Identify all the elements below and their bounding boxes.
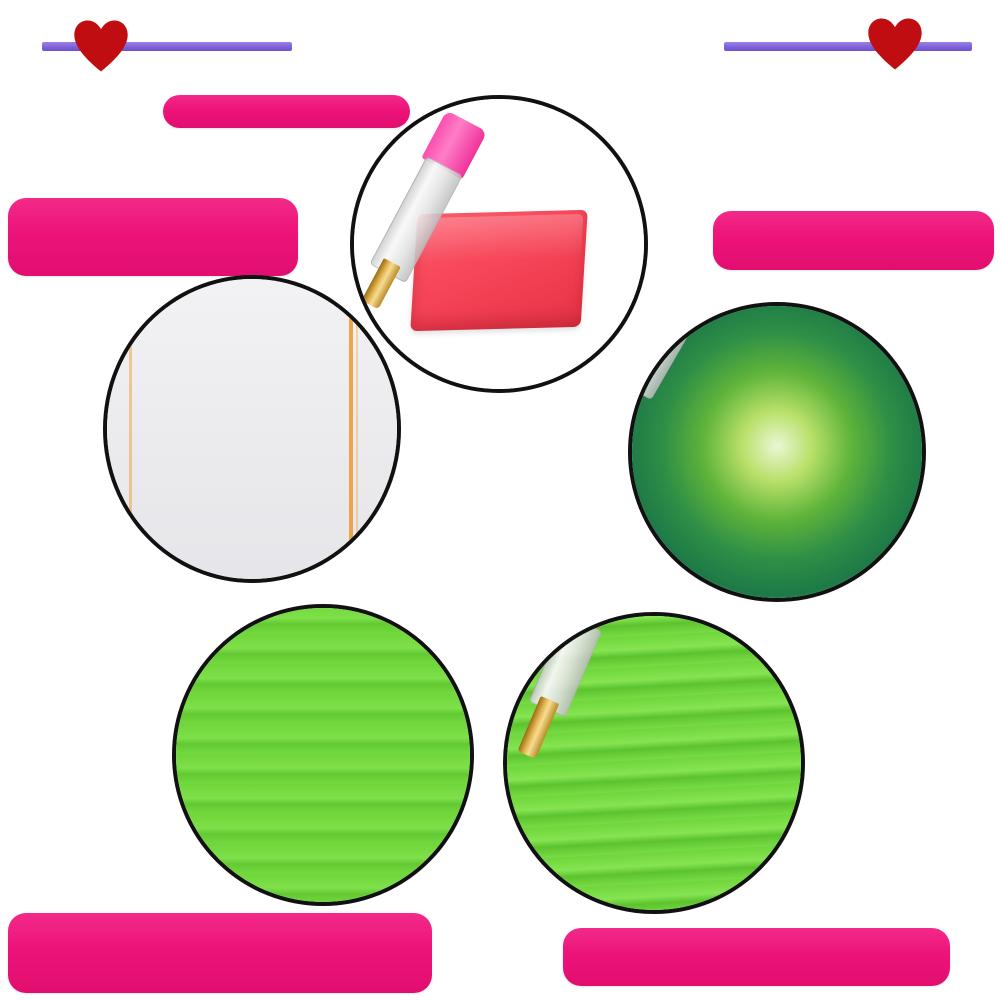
photo-circle-press-diamond-onto-symbol	[628, 302, 926, 602]
heart-icon-left	[72, 18, 130, 74]
legend-sheet	[107, 279, 397, 579]
step-4-label	[563, 928, 950, 986]
step-5-label	[713, 211, 994, 270]
photo-circle-diamonds-in-tray	[172, 604, 474, 906]
photo-circle-press-pen-tip-on-diamond	[503, 612, 805, 914]
heart-icon-right	[866, 16, 924, 72]
pen-metal-tip	[517, 696, 559, 759]
divider-line-right	[724, 42, 972, 51]
diamond-group-tray	[176, 608, 470, 902]
infographic-canvas	[0, 0, 1001, 1001]
step-3-label	[8, 913, 432, 993]
photo-circle-color-symbol-chart	[103, 275, 401, 583]
step-2-label	[8, 198, 298, 276]
header-banner	[0, 0, 1001, 80]
